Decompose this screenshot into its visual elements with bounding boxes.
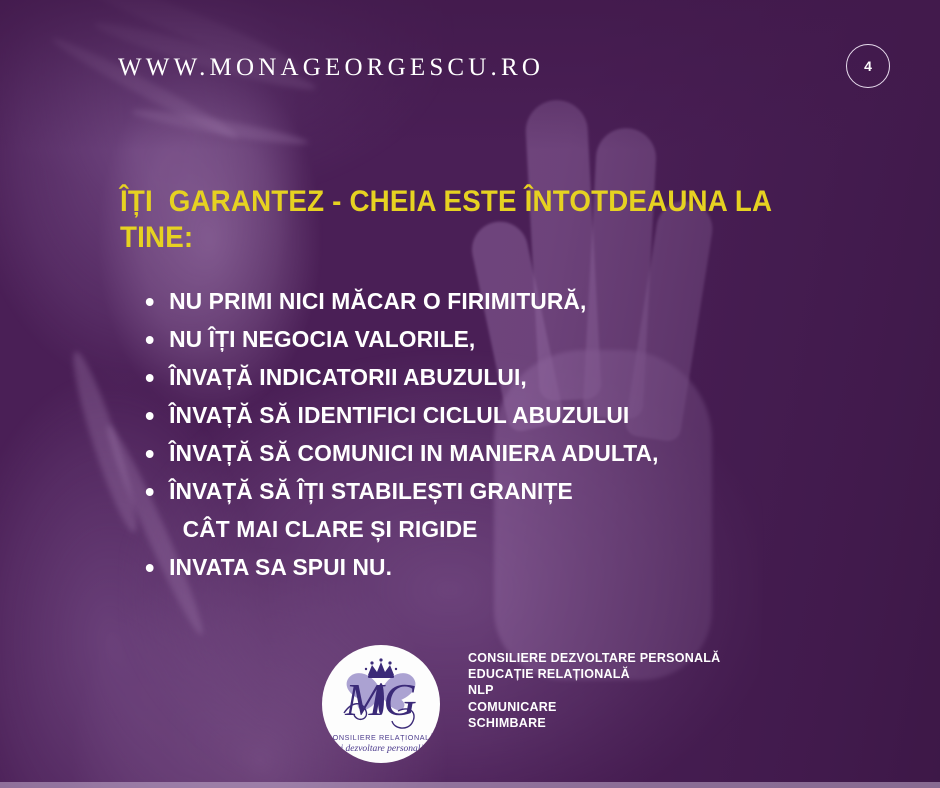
bullet-dot-icon	[146, 564, 154, 572]
service-item: SCHIMBARE	[468, 715, 720, 731]
bullet-dot-icon	[146, 336, 154, 344]
logo-tagline-line1: CONSILIERE RELAȚIONALĂ	[327, 733, 435, 742]
logo-artwork: MG CONSILIERE RELAȚIONALĂ și dezvoltare …	[322, 645, 440, 763]
list-item: CÂT MAI CLARE ȘI RIGIDE	[140, 510, 858, 548]
list-item: INVATA SA SPUI NU.	[140, 548, 858, 586]
list-item-label: ÎNVAȚĂ INDICATORII ABUZULUI,	[169, 364, 527, 390]
list-item: ÎNVAȚĂ SĂ IDENTIFICI CICLUL ABUZULUI	[140, 396, 858, 434]
slide-canvas: WWW.MONAGEORGESCU.RO 4 ÎȚI GARANTEZ - CH…	[0, 0, 940, 788]
list-item-label: INVATA SA SPUI NU.	[169, 554, 392, 580]
logo-tagline-line2: și dezvoltare personală	[337, 744, 426, 754]
slide-content: WWW.MONAGEORGESCU.RO 4 ÎȚI GARANTEZ - CH…	[0, 0, 940, 788]
list-item-label: ÎNVAȚĂ SĂ COMUNICI IN MANIERA ADULTA,	[169, 440, 658, 466]
list-item-label: ÎNVAȚĂ SĂ IDENTIFICI CICLUL ABUZULUI	[169, 402, 629, 428]
list-item: ÎNVAȚĂ INDICATORII ABUZULUI,	[140, 358, 858, 396]
service-item: NLP	[468, 682, 720, 698]
website-url: WWW.MONAGEORGESCU.RO	[118, 54, 544, 82]
page-title: ÎȚI GARANTEZ - CHEIA ESTE ÎNTOTDEAUNA LA…	[120, 184, 778, 256]
bullet-dot-icon	[146, 488, 154, 496]
list-item-label: CÂT MAI CLARE ȘI RIGIDE	[183, 516, 478, 542]
list-item: ÎNVAȚĂ SĂ ÎȚI STABILEȘTI GRANIȚE	[140, 472, 858, 510]
bullet-dot-icon	[146, 412, 154, 420]
list-item: NU ÎȚI NEGOCIA VALORILE,	[140, 320, 858, 358]
page-number-badge: 4	[846, 44, 890, 88]
list-item-label: NU PRIMI NICI MĂCAR O FIRIMITURĂ,	[169, 288, 586, 314]
list-item: NU PRIMI NICI MĂCAR O FIRIMITURĂ,	[140, 282, 858, 320]
list-item: ÎNVAȚĂ SĂ COMUNICI IN MANIERA ADULTA,	[140, 434, 858, 472]
list-item-label: ÎNVAȚĂ SĂ ÎȚI STABILEȘTI GRANIȚE	[169, 478, 573, 504]
bullet-dot-icon	[146, 374, 154, 382]
service-item: EDUCAȚIE RELAȚIONALĂ	[468, 666, 720, 682]
bullet-dot-icon	[146, 298, 154, 306]
guarantee-list: NU PRIMI NICI MĂCAR O FIRIMITURĂ,NU ÎȚI …	[140, 282, 880, 586]
service-item: COMUNICARE	[468, 699, 720, 715]
page-number-text: 4	[864, 58, 872, 74]
bullet-dot-icon	[146, 450, 154, 458]
service-item: CONSILIERE DEZVOLTARE PERSONALĂ	[468, 650, 720, 666]
list-item-label: NU ÎȚI NEGOCIA VALORILE,	[169, 326, 475, 352]
brand-logo: MG CONSILIERE RELAȚIONALĂ și dezvoltare …	[322, 645, 440, 763]
services-list: CONSILIERE DEZVOLTARE PERSONALĂEDUCAȚIE …	[468, 650, 720, 731]
